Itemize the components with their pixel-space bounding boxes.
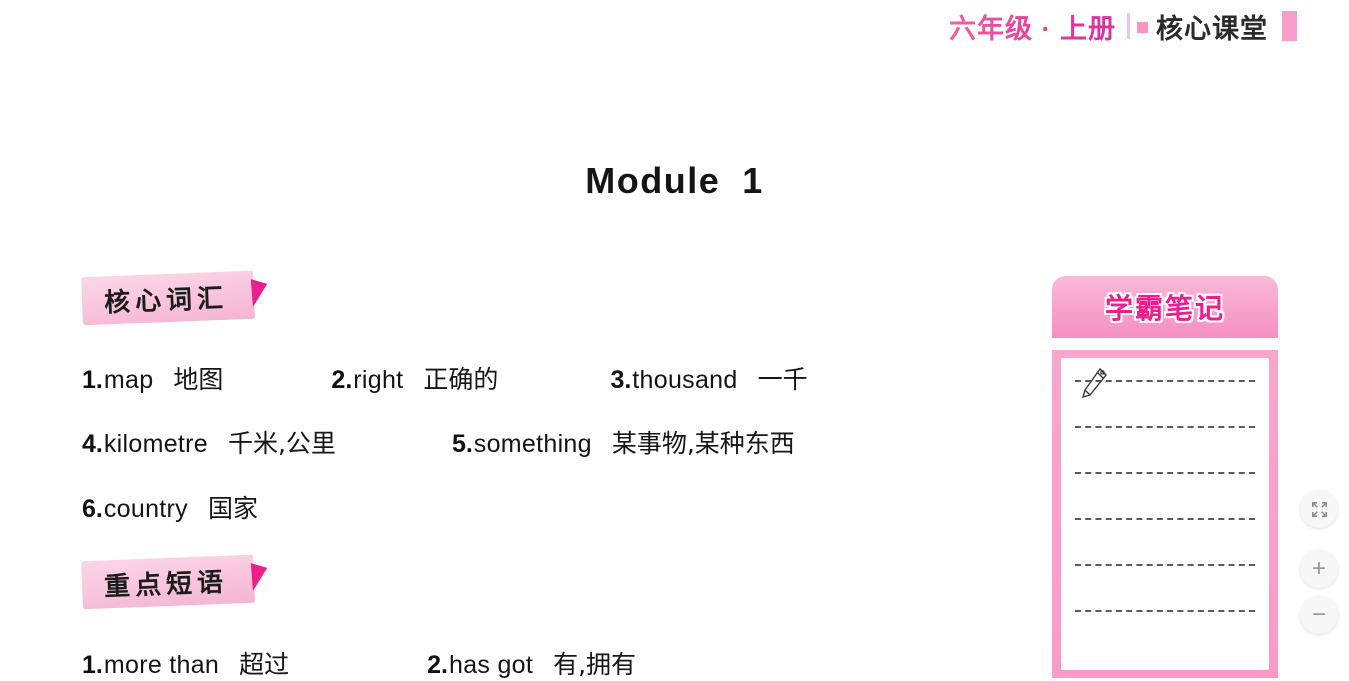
header-grade-label: 六年级 · 上册 xyxy=(949,7,1116,46)
zoom-in-button[interactable]: + xyxy=(1300,550,1338,588)
phrase-row: 1. more than 超过 2. has got 有,拥有 xyxy=(82,645,636,681)
entry-number: 3. xyxy=(610,366,631,395)
entry-chinese: 某事物,某种东西 xyxy=(612,424,795,460)
list-item: 1. more than 超过 xyxy=(82,645,289,681)
entry-chinese: 一千 xyxy=(758,360,808,396)
entry-chinese: 超过 xyxy=(239,645,289,681)
entry-english: has got xyxy=(449,651,533,680)
page-title: Module1 xyxy=(0,160,1349,202)
fit-screen-button[interactable] xyxy=(1300,490,1338,528)
entry-english: kilometre xyxy=(104,430,208,459)
section-tag-key-phrases: 重点短语 xyxy=(82,554,254,610)
fit-screen-icon xyxy=(1311,501,1328,518)
entry-english: right xyxy=(353,366,403,395)
floating-controls: + − xyxy=(1300,490,1338,634)
entry-number: 5. xyxy=(452,430,473,459)
note-line xyxy=(1075,472,1255,474)
notes-panel-divider xyxy=(1052,338,1278,350)
note-line xyxy=(1075,426,1255,428)
entry-number: 1. xyxy=(82,651,103,680)
module-number: 1 xyxy=(742,160,764,201)
vertical-bar-icon xyxy=(1127,13,1130,39)
entry-english: something xyxy=(474,430,592,459)
marker-nib-icon xyxy=(251,562,269,591)
pink-square-icon xyxy=(1137,22,1148,33)
entry-english: thousand xyxy=(632,366,737,395)
note-line xyxy=(1075,564,1255,566)
list-item: 3. thousand 一千 xyxy=(610,360,807,396)
list-item: 1. map 地图 xyxy=(82,360,223,396)
vocabulary-row: 6. country 国家 xyxy=(82,489,258,525)
minus-icon: − xyxy=(1312,603,1326,627)
section-tag-label: 核心词汇 xyxy=(103,277,228,319)
page-header: 六年级 · 上册 核心课堂 xyxy=(0,0,1349,52)
tag-body: 重点短语 xyxy=(81,555,255,610)
vocabulary-row: 4. kilometre 千米,公里 5. something 某事物,某种东西 xyxy=(82,424,795,460)
section-tag-label: 重点短语 xyxy=(103,561,228,603)
entry-english: country xyxy=(104,495,188,524)
entry-chinese: 地图 xyxy=(173,360,223,396)
notes-writing-area[interactable] xyxy=(1061,358,1269,670)
entry-chinese: 国家 xyxy=(208,489,258,525)
notes-panel: 学霸笔记 xyxy=(1052,276,1278,678)
list-item: 2. right 正确的 xyxy=(331,360,498,396)
plus-icon: + xyxy=(1312,557,1326,581)
vocabulary-row: 1. map 地图 2. right 正确的 3. thousand 一千 xyxy=(82,360,808,396)
entry-number: 2. xyxy=(331,366,352,395)
note-line xyxy=(1075,610,1255,612)
notes-panel-title: 学霸笔记 xyxy=(1105,287,1225,327)
marker-nib-icon xyxy=(251,278,269,307)
entry-chinese: 千米,公里 xyxy=(228,424,336,460)
note-line xyxy=(1075,518,1255,520)
entry-number: 4. xyxy=(82,430,103,459)
entry-chinese: 有,拥有 xyxy=(553,645,636,681)
entry-number: 2. xyxy=(427,651,448,680)
header-title: 核心课堂 xyxy=(1156,7,1268,46)
zoom-out-button[interactable]: − xyxy=(1300,596,1338,634)
list-item: 2. has got 有,拥有 xyxy=(427,645,636,681)
pencil-icon xyxy=(1079,366,1109,400)
list-item: 6. country 国家 xyxy=(82,489,258,525)
list-item: 5. something 某事物,某种东西 xyxy=(452,424,795,460)
notes-sheet-wrapper xyxy=(1052,350,1278,670)
entry-number: 1. xyxy=(82,366,103,395)
module-label: Module xyxy=(585,160,720,201)
entry-english: more than xyxy=(104,651,219,680)
pink-block-icon xyxy=(1282,11,1297,41)
entry-english: map xyxy=(104,366,154,395)
entry-number: 6. xyxy=(82,495,103,524)
entry-chinese: 正确的 xyxy=(423,360,498,396)
list-item: 4. kilometre 千米,公里 xyxy=(82,424,336,460)
section-tag-core-vocabulary: 核心词汇 xyxy=(82,270,254,326)
tag-body: 核心词汇 xyxy=(81,271,255,326)
notes-panel-header: 学霸笔记 xyxy=(1052,276,1278,338)
